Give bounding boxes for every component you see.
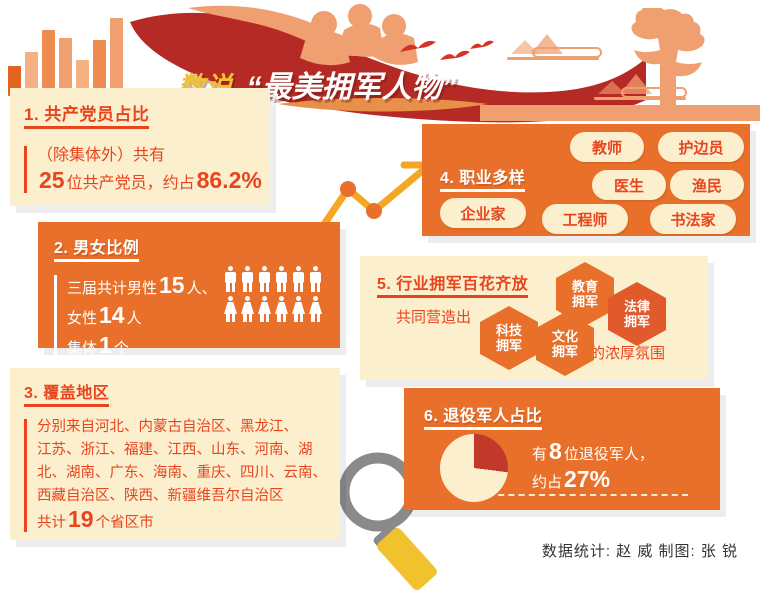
panel-5-lead-text: 共同营造出 — [396, 306, 471, 327]
veteran-percent-label: 约占 — [532, 474, 562, 491]
profession-pill-3[interactable]: 渔民 — [670, 170, 744, 200]
collective-unit: 个 — [114, 340, 129, 357]
profession-pill-5[interactable]: 工程师 — [542, 204, 628, 234]
panel-1-line-1: （除集体外）共有 — [37, 143, 256, 168]
ground-strip — [480, 105, 760, 121]
region-line-4: 西藏自治区、陕西、新疆维吾尔自治区 — [37, 485, 326, 508]
region-line-5: 共计19个省区市 — [37, 508, 326, 535]
bar-7 — [110, 18, 123, 96]
credits-line: 数据统计: 赵 威 制图: 张 锐 — [542, 540, 738, 561]
dashed-divider — [488, 494, 688, 496]
collective-count: 1 — [97, 332, 114, 358]
female-count: 14 — [97, 302, 127, 328]
female-icon — [308, 296, 323, 322]
panel-5-title: 5. 行业拥军百花齐放 — [377, 270, 528, 298]
panel-6-line-2: 约占27% — [532, 466, 612, 493]
industry-hexagon-1[interactable]: 法律拥军 — [608, 282, 666, 346]
veterans-pie-chart — [440, 434, 508, 502]
male-label: 三届共计男性 — [67, 280, 157, 297]
male-unit: 人、 — [187, 280, 217, 297]
mountain-cloud-icon — [505, 28, 625, 63]
male-icon — [291, 266, 306, 292]
veteran-percent: 27% — [562, 466, 612, 492]
hex-label-bottom: 拥军 — [624, 314, 650, 329]
industry-hexagon-2[interactable]: 科技拥军 — [480, 306, 538, 370]
region-total-count: 19 — [66, 506, 96, 532]
female-icon — [223, 296, 238, 322]
panel-4-title: 4. 职业多样 — [440, 164, 525, 192]
panel-3-body: 分别来自河北、内蒙古自治区、黑龙江、 江苏、浙江、福建、江西、山东、河南、湖 北… — [24, 416, 326, 535]
panel-2-line-3: 集体1个 — [67, 332, 324, 362]
male-icon — [274, 266, 289, 292]
bird-icon — [468, 38, 496, 56]
bird-icon — [438, 48, 472, 68]
panel-1-title: 1. 共产党员占比 — [24, 100, 149, 129]
hex-label-bottom: 拥军 — [496, 338, 522, 353]
hex-label-top: 科技 — [496, 323, 522, 338]
panel-5-tail-text: 的浓厚氛围 — [590, 342, 665, 363]
banner-title: “最美拥军人物” — [246, 62, 456, 106]
male-count: 15 — [157, 272, 187, 298]
female-label: 女性 — [67, 310, 97, 327]
veteran-count: 8 — [547, 438, 564, 464]
decorative-bar-chart — [8, 18, 126, 96]
profession-pill-2[interactable]: 医生 — [592, 170, 666, 200]
profession-pill-0[interactable]: 教师 — [570, 132, 644, 162]
panel-2-title: 2. 男女比例 — [54, 234, 139, 262]
female-unit: 人 — [127, 310, 142, 327]
hex-label-top: 文化 — [552, 329, 578, 344]
region-line-1: 分别来自河北、内蒙古自治区、黑龙江、 — [37, 416, 326, 439]
panel-gender-ratio: 2. 男女比例 三届共计男性15人、 女性14人 集体1个 — [38, 222, 340, 348]
people-pictogram — [223, 266, 328, 326]
region-total-unit: 个省区市 — [96, 515, 154, 531]
panel-professions: 4. 职业多样 教师护边员医生渔民企业家工程师书法家 — [422, 124, 750, 236]
female-icon — [291, 296, 306, 322]
female-icon-row — [223, 296, 328, 322]
panel-party-member-share: 1. 共产党员占比 （除集体外）共有 25位共产党员，约占86.2% — [10, 88, 270, 206]
bird-icon — [398, 38, 438, 60]
panel-6-line-1: 有8位退役军人， — [532, 438, 654, 465]
male-icon — [308, 266, 323, 292]
profession-pill-1[interactable]: 护边员 — [658, 132, 744, 162]
profession-pill-4[interactable]: 企业家 — [440, 198, 526, 228]
region-line-2: 江苏、浙江、福建、江西、山东、河南、湖 — [37, 439, 326, 462]
profession-pill-6[interactable]: 书法家 — [650, 204, 736, 234]
male-icon — [223, 266, 238, 292]
hex-label-top: 教育 — [572, 279, 598, 294]
hex-label-bottom: 拥军 — [552, 344, 578, 359]
region-line-3: 北、湖南、广东、海南、重庆、四川、云南、 — [37, 462, 326, 485]
panel-3-title: 3. 覆盖地区 — [24, 379, 109, 407]
panel-1-body: （除集体外）共有 25位共产党员，约占86.2% — [24, 143, 256, 196]
monument-icon — [630, 8, 720, 113]
female-icon — [257, 296, 272, 322]
party-member-count: 25 — [37, 167, 67, 193]
male-icon — [240, 266, 255, 292]
male-icon-row — [223, 266, 328, 292]
hex-label-bottom: 拥军 — [572, 294, 598, 309]
bar-3 — [42, 30, 55, 96]
male-icon — [257, 266, 272, 292]
hex-label-top: 法律 — [624, 299, 650, 314]
female-icon — [240, 296, 255, 322]
panel-6-title: 6. 退役军人占比 — [424, 402, 542, 430]
panel-veterans-share: 6. 退役军人占比 有8位退役军人， 约占27% — [404, 388, 720, 510]
female-icon — [274, 296, 289, 322]
panel-1-line-2: 25位共产党员，约占86.2% — [37, 168, 256, 196]
region-total-label: 共计 — [37, 515, 66, 531]
panel-industry-support: 5. 行业拥军百花齐放 共同营造出 的浓厚氛围 教育拥军法律拥军科技拥军文化拥军 — [360, 256, 708, 380]
panel-coverage-regions: 3. 覆盖地区 分别来自河北、内蒙古自治区、黑龙江、 江苏、浙江、福建、江西、山… — [10, 368, 340, 540]
veteran-label: 有 — [532, 446, 547, 463]
panel-1-line-2-text: 位共产党员，约占 — [67, 175, 195, 192]
party-member-percent: 86.2% — [195, 167, 264, 193]
collective-label: 集体 — [67, 340, 97, 357]
veteran-unit: 位退役军人， — [564, 446, 654, 463]
infographic-canvas: 数说 “最美拥军人物” — [0, 0, 760, 597]
